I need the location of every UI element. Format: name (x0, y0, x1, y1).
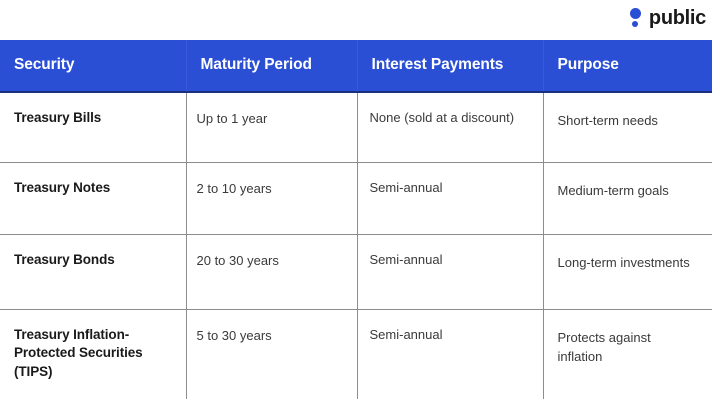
brand-bar: public (0, 0, 720, 36)
cell-security: Treasury Inflation-Protected Securities … (0, 309, 186, 399)
column-header-purpose: Purpose (543, 40, 712, 92)
column-header-security: Security (0, 40, 186, 92)
cell-interest: Semi-annual (357, 162, 543, 234)
cell-interest: Semi-annual (357, 234, 543, 309)
public-logo-icon (629, 8, 642, 28)
table-header-row: Security Maturity Period Interest Paymen… (0, 40, 712, 92)
table-row: Treasury Inflation-Protected Securities … (0, 309, 712, 399)
table-header: Security Maturity Period Interest Paymen… (0, 40, 712, 92)
cell-maturity: 2 to 10 years (186, 162, 357, 234)
cell-purpose: Protects against inflation (543, 309, 712, 399)
cell-purpose: Short-term needs (543, 92, 712, 162)
column-header-interest: Interest Payments (357, 40, 543, 92)
table-row: Treasury Notes 2 to 10 years Semi-annual… (0, 162, 712, 234)
cell-security: Treasury Bills (0, 92, 186, 162)
table-body: Treasury Bills Up to 1 year None (sold a… (0, 92, 712, 399)
cell-interest: Semi-annual (357, 309, 543, 399)
cell-security: Treasury Notes (0, 162, 186, 234)
cell-purpose: Medium-term goals (543, 162, 712, 234)
cell-purpose: Long-term investments (543, 234, 712, 309)
table-row: Treasury Bills Up to 1 year None (sold a… (0, 92, 712, 162)
public-logo[interactable]: public (629, 8, 706, 28)
column-header-maturity: Maturity Period (186, 40, 357, 92)
treasury-securities-table: Security Maturity Period Interest Paymen… (0, 40, 712, 399)
cell-maturity: Up to 1 year (186, 92, 357, 162)
cell-interest: None (sold at a discount) (357, 92, 543, 162)
cell-security: Treasury Bonds (0, 234, 186, 309)
treasury-securities-table-wrapper: Security Maturity Period Interest Paymen… (0, 40, 712, 399)
brand-name: public (649, 8, 706, 28)
table-row: Treasury Bonds 20 to 30 years Semi-annua… (0, 234, 712, 309)
page-root: public Security Maturity Period Interest… (0, 0, 720, 404)
cell-maturity: 20 to 30 years (186, 234, 357, 309)
cell-maturity: 5 to 30 years (186, 309, 357, 399)
